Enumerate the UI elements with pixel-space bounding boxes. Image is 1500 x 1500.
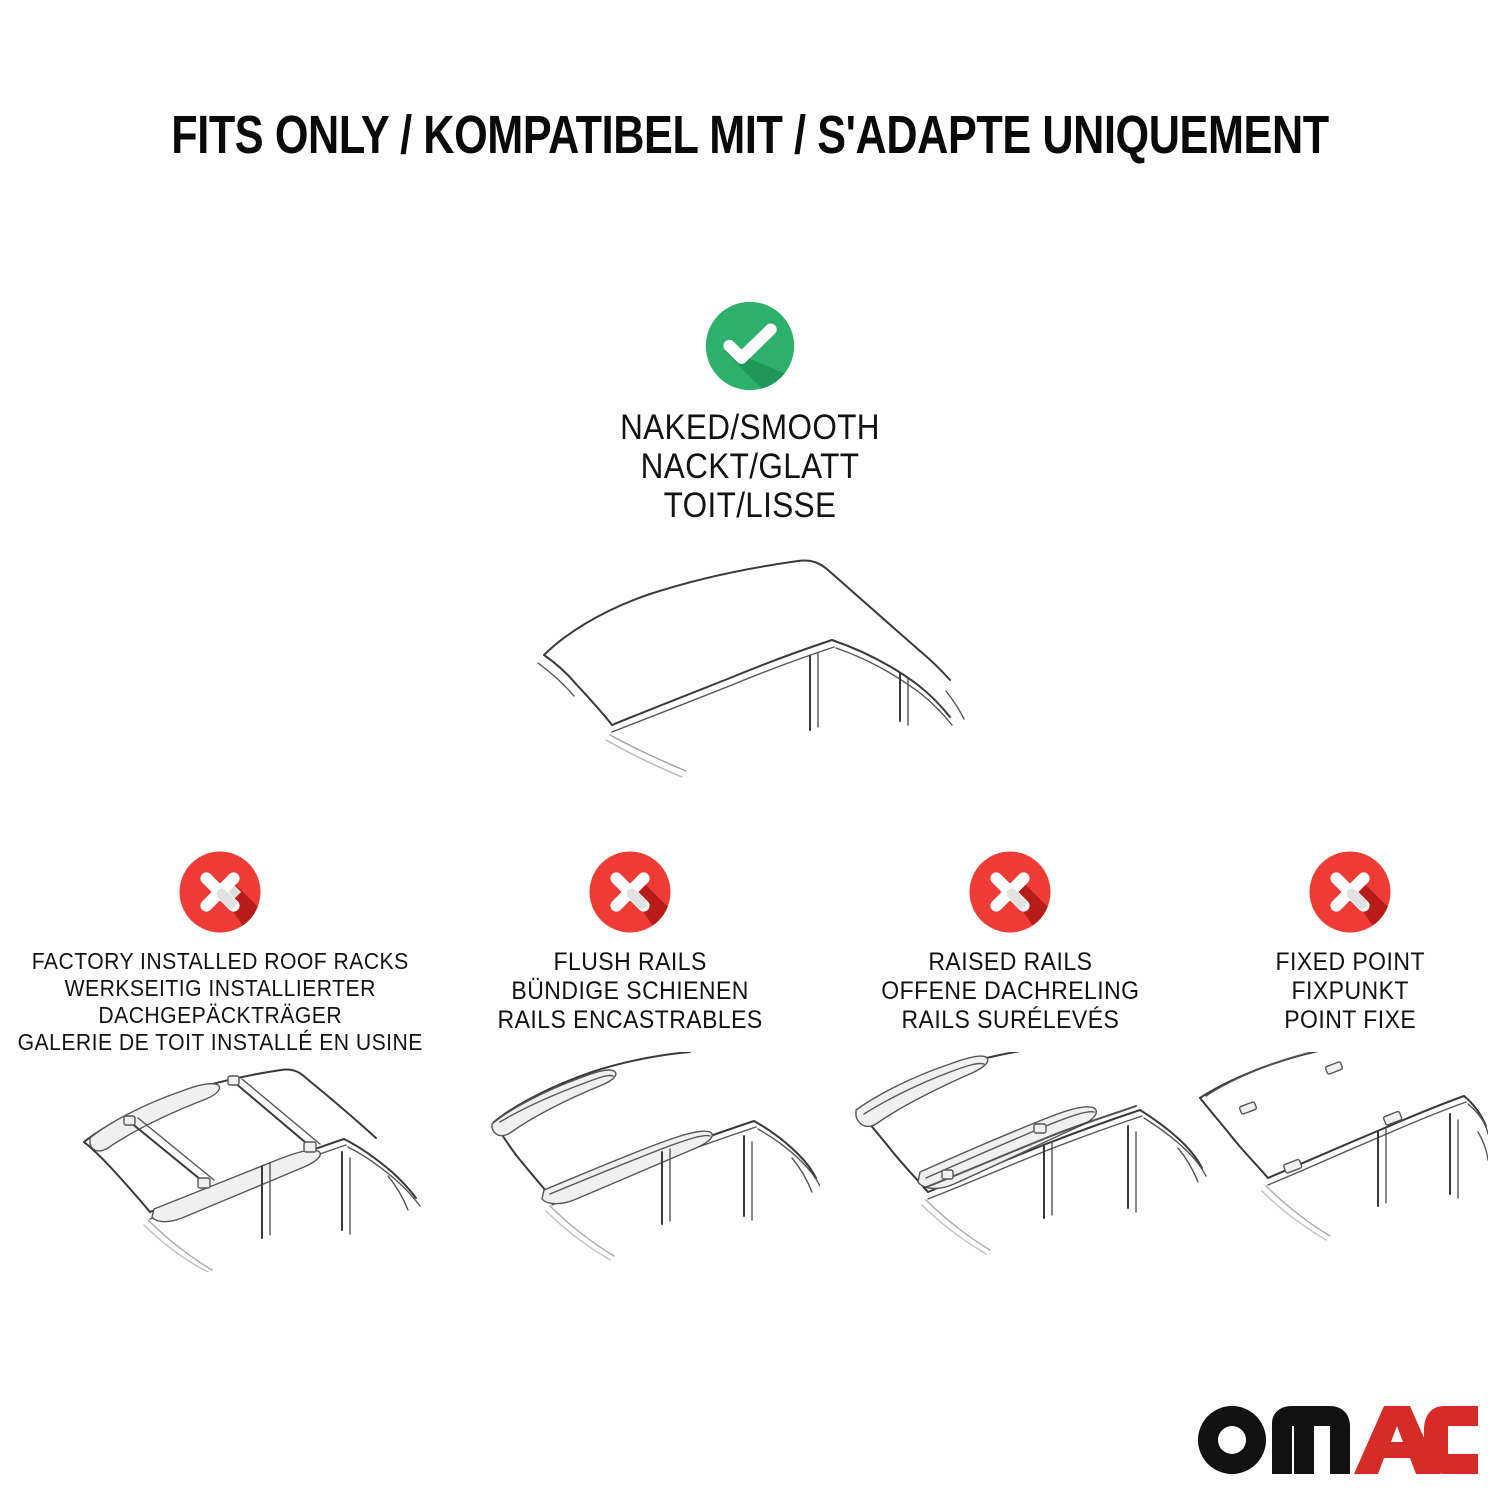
logo-letter-c — [1424, 1406, 1478, 1474]
incompatible-item-fixed-point: FIXED POINT FIXPUNKT POINT FIXE — [1200, 848, 1500, 1035]
naked-smooth-roof-illustration — [480, 539, 1020, 789]
label-line: RAILS SURÉLEVÉS — [881, 1006, 1139, 1035]
fixed-point-illustration — [1188, 1052, 1488, 1272]
label-line: FLUSH RAILS — [497, 948, 762, 977]
x-circle-icon — [966, 848, 1054, 936]
label-line: OFFENE DACHRELING — [881, 977, 1139, 1006]
incompatible-illustrations-row — [0, 1052, 1500, 1312]
x-circle-icon — [586, 848, 674, 936]
compatible-label: NAKED/SMOOTH NACKT/GLATT TOIT/LISSE — [75, 408, 1425, 525]
label-line: BÜNDIGE SCHIENEN — [497, 977, 762, 1006]
compatible-section: NAKED/SMOOTH NACKT/GLATT TOIT/LISSE — [0, 298, 1500, 789]
incompatible-label-factory-installed-roof-racks: FACTORY INSTALLED ROOF RACKS WERKSEITIG … — [17, 948, 422, 1056]
label-line: WERKSEITIG INSTALLIERTER — [17, 975, 422, 1002]
incompatible-item-factory-installed-roof-racks: FACTORY INSTALLED ROOF RACKS WERKSEITIG … — [0, 848, 440, 1056]
x-circle-icon — [176, 848, 264, 936]
raised-rails-illustration — [838, 1052, 1208, 1272]
incompatible-label-raised-rails: RAISED RAILS OFFENE DACHRELING RAILS SUR… — [881, 948, 1139, 1035]
x-circle-icon — [1306, 848, 1394, 936]
incompatible-label-flush-rails: FLUSH RAILS BÜNDIGE SCHIENEN RAILS ENCAS… — [497, 948, 762, 1035]
poster-canvas: FITS ONLY / KOMPATIBEL MIT / S'ADAPTE UN… — [0, 0, 1500, 1500]
label-line: DACHGEPÄCKTRÄGER — [17, 1002, 422, 1029]
incompatible-item-flush-rails: FLUSH RAILS BÜNDIGE SCHIENEN RAILS ENCAS… — [440, 848, 820, 1035]
omac-logo — [1188, 1390, 1478, 1482]
page-title: FITS ONLY / KOMPATIBEL MIT / S'ADAPTE UN… — [150, 104, 1350, 166]
label-line: RAISED RAILS — [881, 948, 1139, 977]
label-line: FIXED POINT — [1275, 948, 1424, 977]
label-line: RAILS ENCASTRABLES — [497, 1006, 762, 1035]
incompatible-item-raised-rails: RAISED RAILS OFFENE DACHRELING RAILS SUR… — [820, 848, 1200, 1035]
compatible-label-line-3: TOIT/LISSE — [75, 486, 1425, 525]
compatible-label-line-1: NAKED/SMOOTH — [75, 408, 1425, 447]
factory-roof-rack-illustration — [46, 1052, 426, 1272]
flush-rails-illustration — [450, 1052, 820, 1272]
label-line: POINT FIXE — [1275, 1006, 1424, 1035]
incompatible-section: FACTORY INSTALLED ROOF RACKS WERKSEITIG … — [0, 848, 1500, 1056]
logo-letter-m — [1272, 1406, 1350, 1474]
label-line: FACTORY INSTALLED ROOF RACKS — [17, 948, 422, 975]
check-circle-icon — [702, 298, 798, 394]
label-line: FIXPUNKT — [1275, 977, 1424, 1006]
incompatible-label-fixed-point: FIXED POINT FIXPUNKT POINT FIXE — [1275, 948, 1424, 1035]
compatible-label-line-2: NACKT/GLATT — [75, 447, 1425, 486]
